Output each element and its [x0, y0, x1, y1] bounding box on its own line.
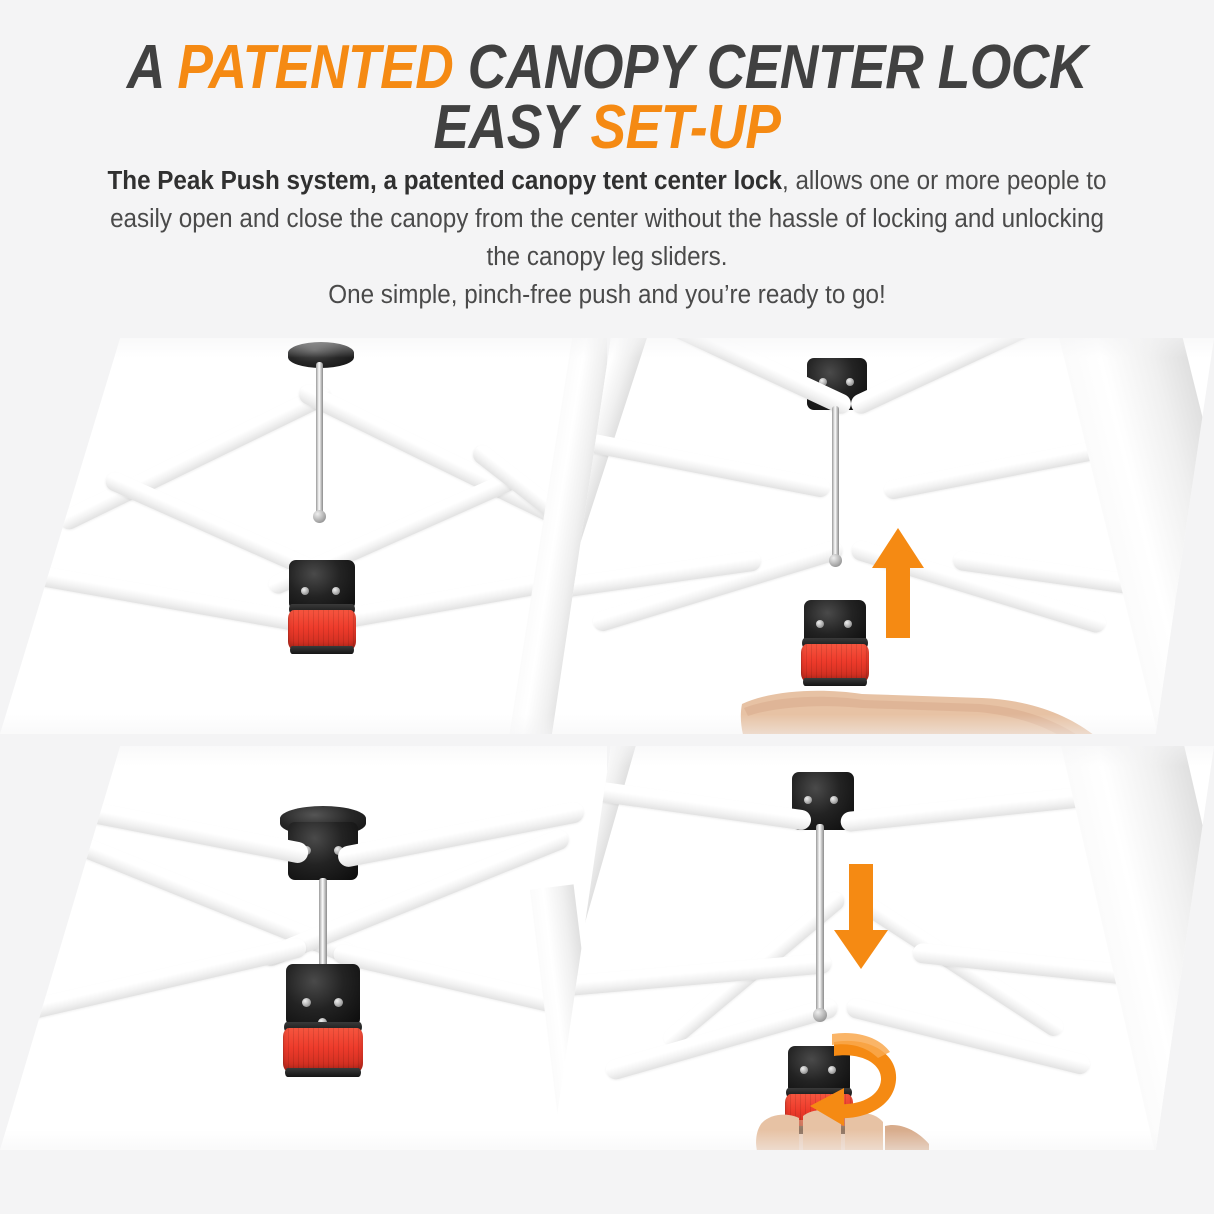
hub-screw-right-3: [334, 998, 343, 1007]
hub-screw-right: [332, 587, 340, 595]
canopy-frame-scene-2: [552, 338, 1214, 734]
red-center-lock-collar-3: [283, 1028, 363, 1072]
arrow-down-icon: [834, 864, 888, 969]
hub-screw-left: [301, 587, 309, 595]
description-paragraph: The Peak Push system, a patented canopy …: [98, 162, 1116, 314]
product-feature-infographic: A PATENTED CANOPY CENTER LOCK EASY SET-U…: [0, 0, 1214, 1214]
rod-tip-4: [813, 1008, 827, 1022]
headline-line-1: A PATENTED CANOPY CENTER LOCK: [85, 38, 1129, 98]
headline-highlight-patented: PATENTED: [177, 33, 453, 102]
frame-tube-top-left-4: [592, 781, 813, 831]
headline-text-b: CANOPY CENTER LOCK: [453, 33, 1087, 102]
panel-push-up[interactable]: [552, 338, 1214, 734]
headline-line-2: EASY SET-UP: [85, 98, 1129, 158]
center-lock-hub: [289, 560, 355, 610]
headline-highlight-setup: SET-UP: [590, 93, 780, 162]
rod-tip: [313, 510, 326, 523]
center-steel-rod-3: [319, 878, 327, 970]
frame-tube-scissor-left-2: [0, 936, 308, 1027]
canopy-leg-tube-right-4: [1056, 746, 1214, 1150]
frame-tube-upper-left-2: [582, 432, 831, 498]
hub-screw-left-3: [302, 998, 311, 1007]
arrow-up-icon: [872, 528, 924, 638]
frame-tube-mid-4: [552, 953, 832, 999]
frame-tube-top-right: [848, 338, 1088, 417]
headline-text-a: A: [127, 33, 177, 102]
canopy-leg-tube: [0, 338, 76, 734]
arrow-rotate-icon: [774, 1028, 904, 1136]
center-steel-rod: [316, 362, 323, 514]
canopy-frame-scene-4: [552, 746, 1214, 1150]
panel-locked[interactable]: [0, 746, 607, 1150]
top-hub-screw-right: [846, 378, 854, 386]
canopy-frame-scene-3: [0, 746, 607, 1150]
open-palm-hand: [732, 668, 1102, 734]
description-bold-lead: The Peak Push system, a patented canopy …: [107, 167, 782, 195]
headline-text-easy: EASY: [434, 93, 591, 162]
top-hub-screw-right-4: [830, 796, 838, 804]
hub-screw-left-2: [816, 620, 824, 628]
red-center-lock-collar: [288, 610, 356, 650]
canopy-frame-scene-1: [0, 338, 607, 734]
page-headline: A PATENTED CANOPY CENTER LOCK EASY SET-U…: [85, 38, 1129, 158]
hub-screw-right-2: [844, 620, 852, 628]
panel-gallery: [0, 338, 1214, 1150]
panel-collapsed[interactable]: [0, 338, 607, 734]
top-hub-screw-left-4: [804, 796, 812, 804]
center-steel-rod-2: [832, 406, 839, 558]
center-lock-hub-3: [286, 964, 360, 1026]
description-closing-line: One simple, pinch-free push and you’re r…: [328, 281, 886, 309]
rod-tip-2: [829, 554, 842, 567]
panel-release-down[interactable]: [552, 746, 1214, 1150]
center-steel-rod-4: [816, 824, 824, 1014]
collar-bottom-lip-3: [285, 1068, 361, 1077]
frame-tube-lower-left: [11, 561, 320, 635]
collar-bottom-lip: [290, 646, 354, 654]
canopy-leg-tube-3: [0, 746, 88, 1150]
